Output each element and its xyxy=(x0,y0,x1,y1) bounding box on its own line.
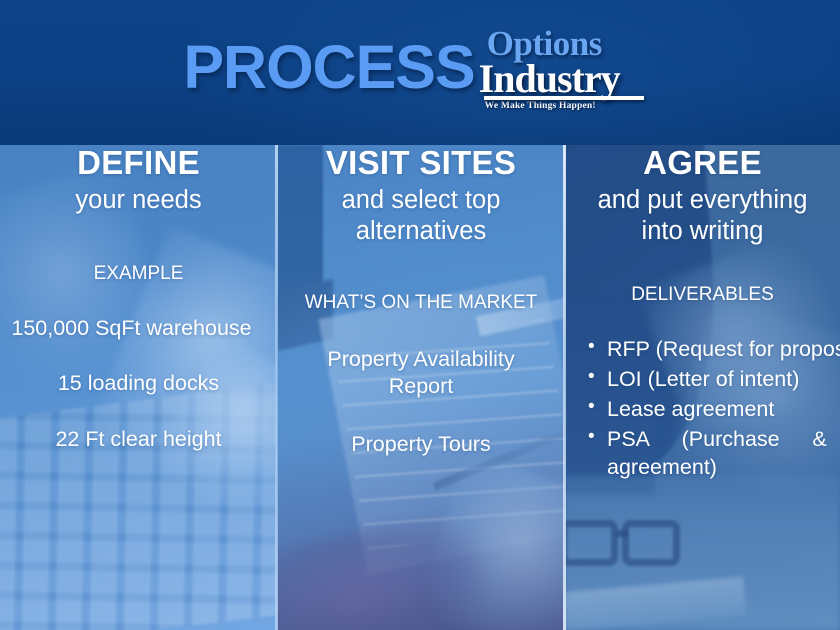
column-subheading-agree: and put everything into writing xyxy=(579,185,826,247)
list-item: Lease agreement xyxy=(607,396,826,424)
list-item: 15 loading docks xyxy=(4,370,273,398)
list-item: Property Availability Report xyxy=(303,346,539,401)
header-row: PROCESS Options Industry We Make Things … xyxy=(183,26,656,109)
column-label-agree: DELIVERABLES xyxy=(579,283,826,308)
list-item-label: PSA (Purchase & sale agreement) xyxy=(607,426,840,482)
column-content-define: DEFINE your needs EXAMPLE 150,000 SqFt w… xyxy=(0,145,277,630)
process-column-visit-sites: VISIT SITES and select top alternatives … xyxy=(277,145,565,630)
column-heading-agree: AGREE xyxy=(579,145,826,182)
logo-text-industry: Industry xyxy=(479,60,657,98)
list-item: RFP (Request for proposal) xyxy=(607,336,826,364)
column-content-visit-sites: VISIT SITES and select top alternatives … xyxy=(277,145,565,630)
process-column-define: DEFINE your needs EXAMPLE 150,000 SqFt w… xyxy=(0,145,277,630)
list-item: 22 Ft clear height xyxy=(4,426,273,454)
column-content-agree: AGREE and put everything into writing DE… xyxy=(565,145,840,630)
process-columns: DEFINE your needs EXAMPLE 150,000 SqFt w… xyxy=(0,145,840,630)
column-heading-define: DEFINE xyxy=(4,145,273,182)
logo-tagline: We Make Things Happen! xyxy=(479,101,657,111)
logo-industry-wrap: Industry xyxy=(479,60,657,98)
column-label-define: EXAMPLE xyxy=(4,262,273,287)
list-item: 150,000 SqFt warehouse xyxy=(0,315,273,343)
list-item: PSA (Purchase & sale agreement) xyxy=(607,426,826,482)
page-title: PROCESS xyxy=(183,37,474,98)
header-inner: PROCESS Options Industry We Make Things … xyxy=(0,0,840,145)
column-subheading-visit-sites: and select top alternatives xyxy=(303,185,539,247)
process-slide: PROCESS Options Industry We Make Things … xyxy=(0,0,840,630)
column-label-visit-sites: WHAT’S ON THE MARKET xyxy=(303,291,539,316)
deliverables-list: RFP (Request for proposal) LOI (Letter o… xyxy=(579,336,826,482)
column-divider-1 xyxy=(275,145,278,630)
column-divider-2 xyxy=(563,145,566,630)
process-column-agree: AGREE and put everything into writing DE… xyxy=(565,145,840,630)
column-heading-visit-sites: VISIT SITES xyxy=(303,145,539,182)
column-subheading-define: your needs xyxy=(4,185,273,216)
options-industry-logo: Options Industry We Make Things Happen! xyxy=(479,28,657,111)
logo-underline-rule xyxy=(484,96,644,100)
list-item: LOI (Letter of intent) xyxy=(607,366,826,394)
slide-header: PROCESS Options Industry We Make Things … xyxy=(0,0,840,145)
list-item: Property Tours xyxy=(303,431,539,459)
list-item-label: RFP (Request for proposal) xyxy=(607,336,840,364)
